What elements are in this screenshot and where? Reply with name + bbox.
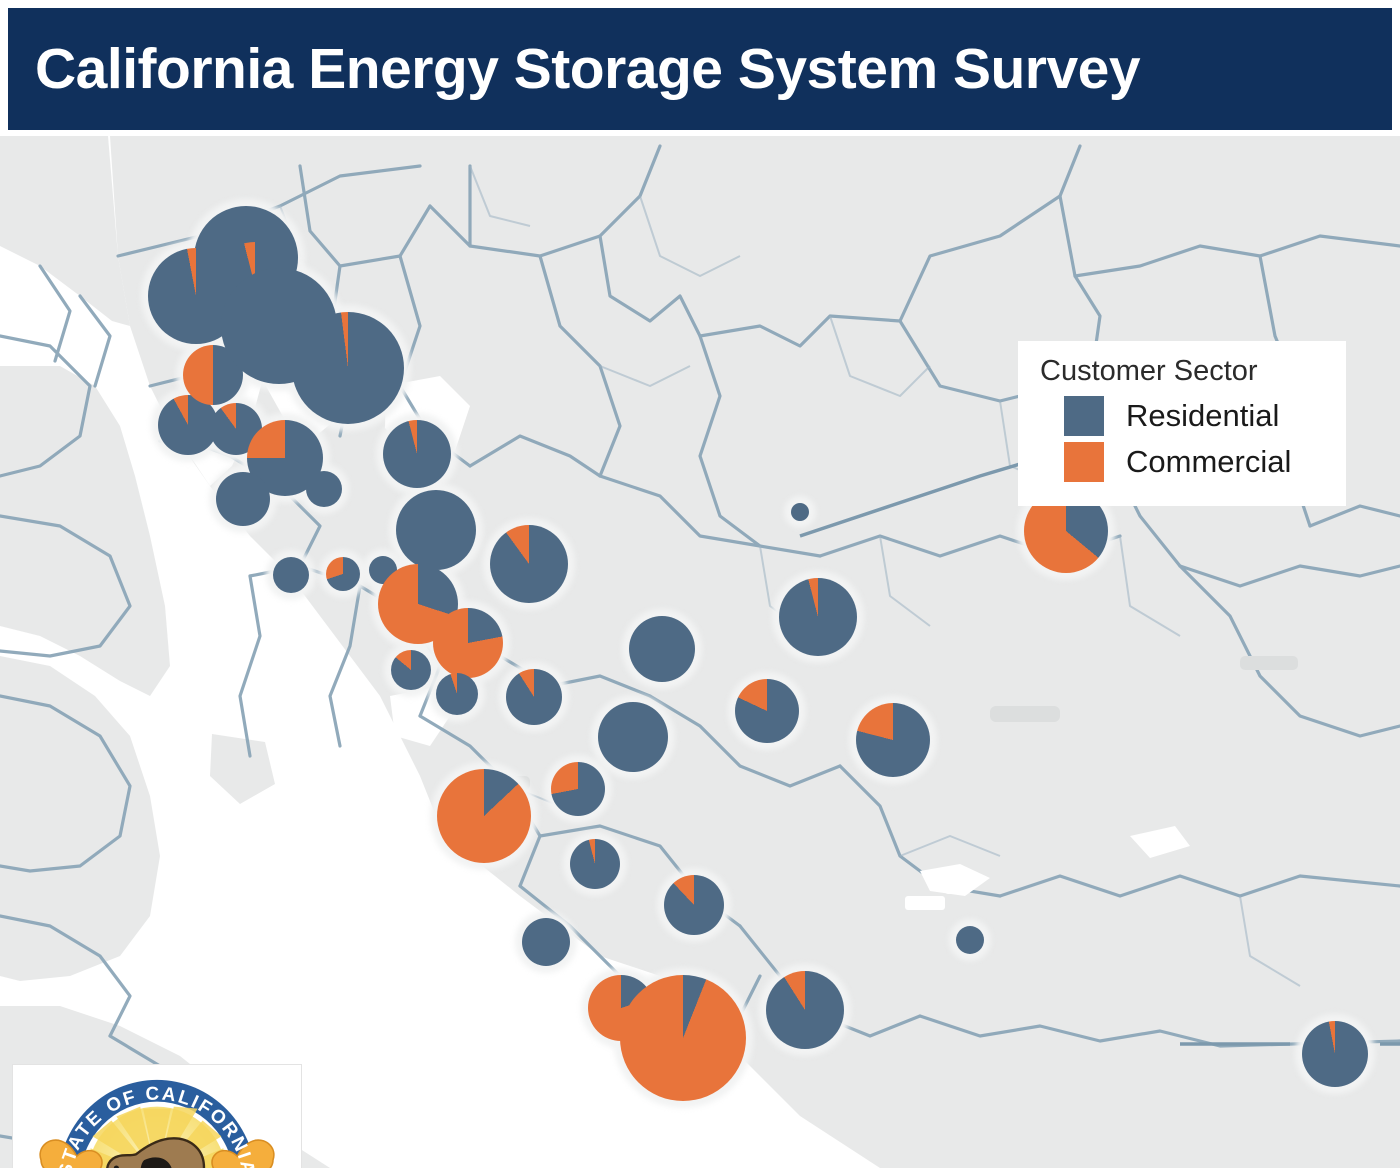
pie-symbol[interactable] <box>433 608 503 678</box>
pie-symbol[interactable] <box>551 762 605 816</box>
pie-symbol[interactable] <box>570 839 620 889</box>
pie-symbol[interactable] <box>598 702 668 772</box>
page-header: California Energy Storage System Survey <box>8 8 1392 130</box>
page-title: California Energy Storage System Survey <box>35 36 1140 102</box>
pie-symbol[interactable] <box>391 650 431 690</box>
legend-label-residential: Residential <box>1126 398 1279 434</box>
california-energy-commission-logo: STATE OF CALIFORNIA ENERGY COMMISSION <box>12 1064 302 1168</box>
pie-symbol[interactable] <box>436 673 478 715</box>
pie-symbol[interactable] <box>620 975 746 1101</box>
pie-symbol[interactable] <box>490 525 568 603</box>
pie-symbol[interactable] <box>664 875 724 935</box>
legend-panel: Customer Sector Residential Commercial <box>1018 341 1346 506</box>
legend-swatch-residential <box>1064 396 1104 436</box>
pie-symbol[interactable] <box>1302 1021 1368 1087</box>
legend-swatch-commercial <box>1064 442 1104 482</box>
pie-symbol[interactable] <box>326 557 360 591</box>
pie-symbol[interactable] <box>856 703 930 777</box>
pie-symbol[interactable] <box>292 312 404 424</box>
pie-symbol[interactable] <box>306 471 342 507</box>
pie-symbol[interactable] <box>216 472 270 526</box>
legend-label-commercial: Commercial <box>1126 444 1291 480</box>
pie-symbol[interactable] <box>779 578 857 656</box>
pie-symbol[interactable] <box>735 679 799 743</box>
legend-item-commercial[interactable]: Commercial <box>1064 442 1328 482</box>
pie-symbol[interactable] <box>273 557 309 593</box>
pie-symbol[interactable] <box>383 420 451 488</box>
pie-symbol-layer[interactable] <box>0 136 1400 1168</box>
pie-symbol[interactable] <box>522 918 570 966</box>
screenshot-root: California Energy Storage System Survey <box>0 0 1400 1168</box>
pie-symbol[interactable] <box>506 669 562 725</box>
seal-graphic: STATE OF CALIFORNIA ENERGY COMMISSION <box>13 1065 301 1168</box>
legend-title: Customer Sector <box>1040 355 1328 388</box>
pie-symbol[interactable] <box>766 971 844 1049</box>
legend-item-residential[interactable]: Residential <box>1064 396 1328 436</box>
pie-symbol[interactable] <box>437 769 531 863</box>
pie-symbol[interactable] <box>791 503 809 521</box>
pie-symbol[interactable] <box>396 490 476 570</box>
pie-symbol[interactable] <box>956 926 984 954</box>
pie-symbol[interactable] <box>629 616 695 682</box>
california-choropleth-map[interactable]: Customer Sector Residential Commercial <box>0 136 1400 1168</box>
